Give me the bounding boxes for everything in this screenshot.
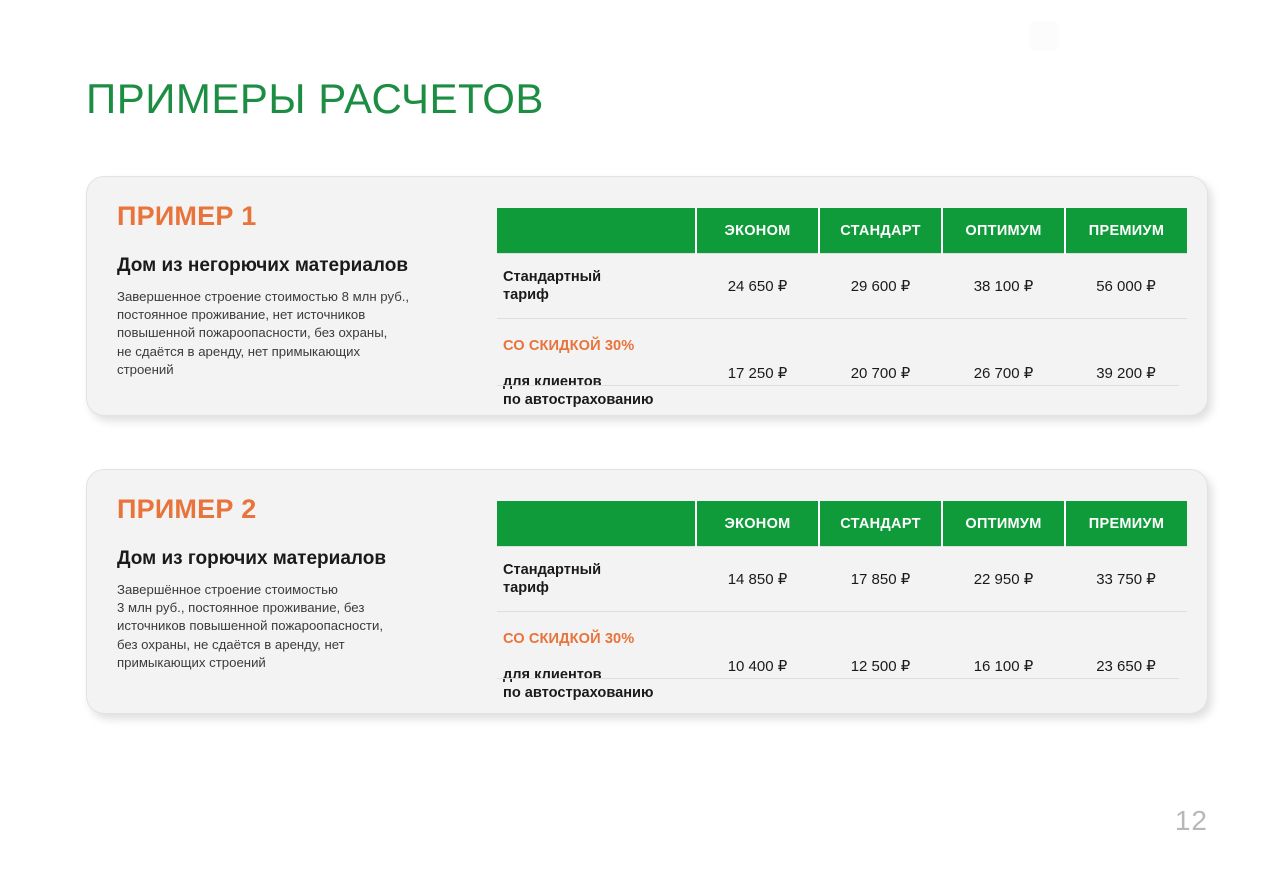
- discount-sublabel: для клиентов по автострахованию: [503, 373, 696, 409]
- cell-premium: 39 200 ₽: [1065, 319, 1187, 428]
- cell-econom: 24 650 ₽: [696, 254, 819, 319]
- cell-premium: 56 000 ₽: [1065, 254, 1187, 319]
- table-row: Стандартный тариф 24 650 ₽ 29 600 ₽ 38 1…: [497, 254, 1187, 319]
- example-card-1: ПРИМЕР 1 Дом из негорючих материалов Зав…: [86, 176, 1208, 416]
- cell-econom: 10 400 ₽: [696, 612, 819, 721]
- card-description: Завершенное строение стоимостью 8 млн ру…: [117, 288, 497, 379]
- table-row: СО СКИДКОЙ 30% для клиентов по автострах…: [497, 612, 1187, 721]
- table-header-row: ЭКОНОМ СТАНДАРТ ОПТИМУМ ПРЕМИУМ: [497, 501, 1187, 547]
- table-header-premium: ПРЕМИУМ: [1065, 501, 1187, 547]
- table-bottom-divider: [497, 678, 1179, 679]
- cell-optimum: 22 950 ₽: [942, 547, 1065, 612]
- discount-sublabel: для клиентов по автострахованию: [503, 666, 696, 702]
- table-header-econom: ЭКОНОМ: [696, 501, 819, 547]
- table-header-optimum: ОПТИМУМ: [942, 501, 1065, 547]
- card-description: Завершённое строение стоимостью 3 млн ру…: [117, 581, 497, 672]
- cell-premium: 33 750 ₽: [1065, 547, 1187, 612]
- table-header-standart: СТАНДАРТ: [819, 208, 942, 254]
- cell-standart: 12 500 ₽: [819, 612, 942, 721]
- row-label-discount: СО СКИДКОЙ 30% для клиентов по автострах…: [497, 612, 696, 721]
- card-heading: Дом из горючих материалов: [117, 548, 497, 570]
- cell-econom: 14 850 ₽: [696, 547, 819, 612]
- page-number: 12: [1175, 805, 1208, 837]
- watermark-artifact: [1030, 22, 1058, 50]
- table-header-econom: ЭКОНОМ: [696, 208, 819, 254]
- discount-badge: СО СКИДКОЙ 30%: [503, 337, 696, 355]
- example-label: ПРИМЕР 2: [117, 496, 497, 523]
- row-label-standard-tariff: Стандартный тариф: [497, 547, 696, 612]
- example-card-2: ПРИМЕР 2 Дом из горючих материалов Завер…: [86, 469, 1208, 714]
- table-bottom-divider: [497, 385, 1179, 386]
- tariff-table-2: ЭКОНОМ СТАНДАРТ ОПТИМУМ ПРЕМИУМ Стандарт…: [497, 501, 1187, 721]
- page-title: ПРИМЕРЫ РАСЧЕТОВ: [86, 76, 544, 122]
- card-2-text-block: ПРИМЕР 2 Дом из горючих материалов Завер…: [117, 496, 497, 672]
- table-header-premium: ПРЕМИУМ: [1065, 208, 1187, 254]
- table-header-standart: СТАНДАРТ: [819, 501, 942, 547]
- table-row: СО СКИДКОЙ 30% для клиентов по автострах…: [497, 319, 1187, 428]
- table-row: Стандартный тариф 14 850 ₽ 17 850 ₽ 22 9…: [497, 547, 1187, 612]
- slide: ПРИМЕРЫ РАСЧЕТОВ ПРИМЕР 1 Дом из негорюч…: [0, 0, 1280, 885]
- table-header-row: ЭКОНОМ СТАНДАРТ ОПТИМУМ ПРЕМИУМ: [497, 208, 1187, 254]
- cell-premium: 23 650 ₽: [1065, 612, 1187, 721]
- table-header-blank: [497, 208, 696, 254]
- card-heading: Дом из негорючих материалов: [117, 255, 497, 277]
- tariff-table-1: ЭКОНОМ СТАНДАРТ ОПТИМУМ ПРЕМИУМ Стандарт…: [497, 208, 1187, 428]
- cell-standart: 20 700 ₽: [819, 319, 942, 428]
- cell-optimum: 16 100 ₽: [942, 612, 1065, 721]
- table-header-optimum: ОПТИМУМ: [942, 208, 1065, 254]
- row-label-discount: СО СКИДКОЙ 30% для клиентов по автострах…: [497, 319, 696, 428]
- card-1-text-block: ПРИМЕР 1 Дом из негорючих материалов Зав…: [117, 203, 497, 379]
- example-label: ПРИМЕР 1: [117, 203, 497, 230]
- cell-econom: 17 250 ₽: [696, 319, 819, 428]
- table-header-blank: [497, 501, 696, 547]
- discount-badge: СО СКИДКОЙ 30%: [503, 630, 696, 648]
- cell-standart: 29 600 ₽: [819, 254, 942, 319]
- cell-optimum: 38 100 ₽: [942, 254, 1065, 319]
- cell-optimum: 26 700 ₽: [942, 319, 1065, 428]
- row-label-standard-tariff: Стандартный тариф: [497, 254, 696, 319]
- cell-standart: 17 850 ₽: [819, 547, 942, 612]
